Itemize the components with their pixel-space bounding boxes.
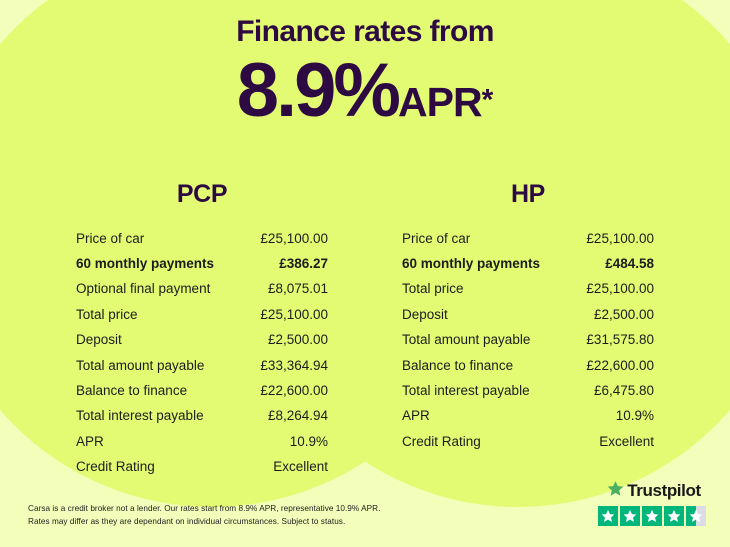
plan-rows-hp: Price of car £25,100.00 60 monthly payme… [394, 226, 662, 455]
table-row: Total interest payable £8,264.94 [68, 404, 336, 429]
row-value: £25,100.00 [586, 230, 654, 248]
finance-plan-columns: PCP Price of car £25,100.00 60 monthly p… [0, 180, 730, 480]
table-row: Deposit £2,500.00 [394, 302, 662, 327]
row-label: 60 monthly payments [76, 255, 214, 273]
trustpilot-name: Trustpilot [627, 481, 700, 501]
row-label: Optional final payment [76, 280, 210, 298]
row-value: £2,500.00 [594, 306, 654, 324]
row-label: Total price [76, 306, 138, 324]
row-label: Credit Rating [76, 458, 155, 476]
table-row: Credit Rating Excellent [394, 429, 662, 454]
page-title: Finance rates from [0, 17, 730, 47]
row-label: Deposit [402, 306, 448, 324]
row-label: Credit Rating [402, 433, 481, 451]
row-value: £25,100.00 [260, 306, 328, 324]
row-label: APR [402, 407, 430, 425]
row-value: 10.9% [290, 433, 328, 451]
row-value: £31,575.80 [586, 331, 654, 349]
trustpilot-star-icon [607, 480, 624, 502]
rating-star-1 [598, 506, 618, 526]
table-row: Balance to finance £22,600.00 [394, 353, 662, 378]
row-label: Balance to finance [76, 382, 187, 400]
trustpilot-wordmark: Trustpilot [598, 480, 710, 502]
plan-pcp: PCP Price of car £25,100.00 60 monthly p… [68, 180, 336, 480]
table-row: Optional final payment £8,075.01 [68, 277, 336, 302]
poster-header: Finance rates from 8.9%APR* [0, 0, 730, 129]
row-label: Total interest payable [402, 382, 530, 400]
poster-footer: Carsa is a credit broker not a lender. O… [0, 475, 730, 547]
row-label: Deposit [76, 331, 122, 349]
table-row: Total amount payable £31,575.80 [394, 328, 662, 353]
plan-rows-pcp: Price of car £25,100.00 60 monthly payme… [68, 226, 336, 480]
rate-value: 8.9% [237, 48, 398, 133]
row-value: 10.9% [616, 407, 654, 425]
rating-star-4 [664, 506, 684, 526]
row-label: Balance to finance [402, 357, 513, 375]
row-value: £25,100.00 [586, 280, 654, 298]
row-value: £25,100.00 [260, 230, 328, 248]
row-value: £6,475.80 [594, 382, 654, 400]
table-row: 60 monthly payments £484.58 [394, 251, 662, 276]
row-label: Price of car [402, 230, 470, 248]
table-row: Price of car £25,100.00 [394, 226, 662, 251]
row-label: APR [76, 433, 104, 451]
plan-hp: HP Price of car £25,100.00 60 monthly pa… [394, 180, 662, 480]
row-value: £2,500.00 [268, 331, 328, 349]
row-value: £33,364.94 [260, 357, 328, 375]
table-row: Deposit £2,500.00 [68, 328, 336, 353]
table-row: Total interest payable £6,475.80 [394, 378, 662, 403]
disclaimer-text: Carsa is a credit broker not a lender. O… [28, 502, 380, 529]
row-label: Total amount payable [76, 357, 204, 375]
row-label: Total amount payable [402, 331, 530, 349]
rate-asterisk: * [482, 84, 494, 117]
trustpilot-rating: Trustpilot [598, 480, 710, 526]
disclaimer-line-2: Rates may differ as they are dependant o… [28, 515, 380, 529]
table-row: Total price £25,100.00 [68, 302, 336, 327]
table-row: Balance to finance £22,600.00 [68, 378, 336, 403]
rating-star-3 [642, 506, 662, 526]
row-label: Total interest payable [76, 407, 204, 425]
plan-title-hp: HP [394, 180, 662, 209]
row-value: £8,264.94 [268, 407, 328, 425]
finance-rates-poster: Finance rates from 8.9%APR* PCP Price of… [0, 0, 730, 547]
trustpilot-stars [598, 506, 710, 526]
rate-headline: 8.9%APR* [0, 53, 730, 129]
row-value: £386.27 [279, 255, 328, 273]
rating-star-2 [620, 506, 640, 526]
table-row: 60 monthly payments £386.27 [68, 251, 336, 276]
row-label: Price of car [76, 230, 144, 248]
row-value: £484.58 [605, 255, 654, 273]
table-row: APR 10.9% [68, 429, 336, 454]
table-row: APR 10.9% [394, 404, 662, 429]
disclaimer-line-1: Carsa is a credit broker not a lender. O… [28, 502, 380, 516]
table-row: Total price £25,100.00 [394, 277, 662, 302]
row-label: Total price [402, 280, 464, 298]
row-value: £8,075.01 [268, 280, 328, 298]
table-row: Total amount payable £33,364.94 [68, 353, 336, 378]
row-value: £22,600.00 [586, 357, 654, 375]
row-value: Excellent [599, 433, 654, 451]
table-row: Price of car £25,100.00 [68, 226, 336, 251]
row-value: Excellent [273, 458, 328, 476]
plan-title-pcp: PCP [68, 180, 336, 209]
row-label: 60 monthly payments [402, 255, 540, 273]
rating-star-5-half [686, 506, 706, 526]
rate-suffix: APR [398, 79, 482, 125]
row-value: £22,600.00 [260, 382, 328, 400]
